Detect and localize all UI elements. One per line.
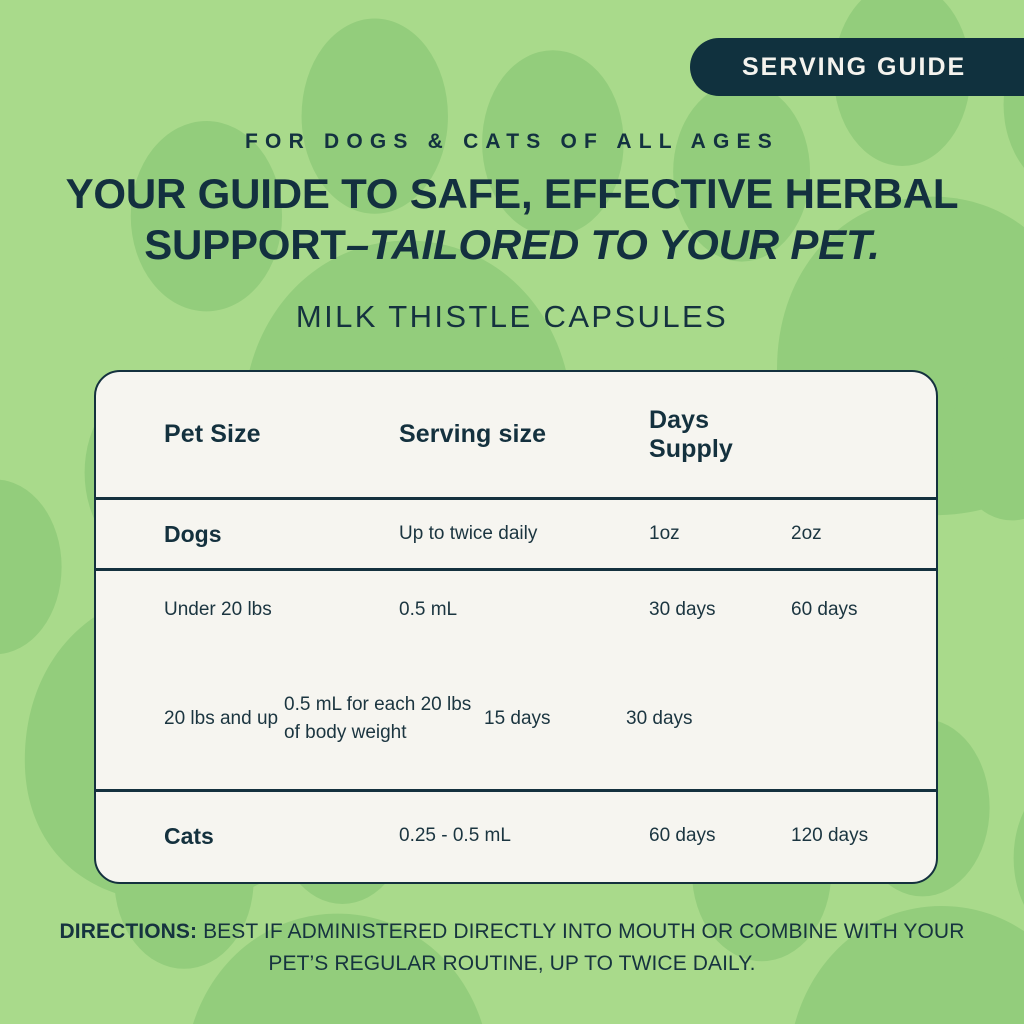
headline-block: FOR DOGS & CATS OF ALL AGES YOUR GUIDE T… bbox=[0, 130, 1024, 335]
cell-supply-2: 60 days bbox=[791, 596, 938, 624]
table-row-under-20-lbs: Under 20 lbs 0.5 mL 30 days 60 days bbox=[96, 571, 936, 649]
cell-serving-size: 0.5 mL bbox=[399, 596, 649, 624]
serving-guide-badge-label: SERVING GUIDE bbox=[690, 53, 966, 82]
cell-pet-size: Under 20 lbs bbox=[164, 596, 399, 624]
cell-supply-1: 30 days bbox=[649, 596, 791, 624]
cell-supply-2: 30 days bbox=[626, 705, 776, 733]
directions-footer: DIRECTIONS: BEST IF ADMINISTERED DIRECTL… bbox=[52, 916, 972, 980]
cell-serving-size: 0.5 mL for each 20 lbs of body weight bbox=[284, 691, 484, 746]
cell-pet-size: Dogs bbox=[164, 521, 399, 548]
headline-line-2-italic: –TAILORED TO YOUR PET. bbox=[346, 221, 880, 268]
cell-pet-size: 20 lbs and up bbox=[164, 705, 284, 733]
cell-supply-2: 2oz bbox=[791, 520, 938, 548]
cell-supply-1: 60 days bbox=[649, 822, 791, 850]
table-row-20-lbs-and-up: 20 lbs and up 0.5 mL for each 20 lbs of … bbox=[96, 649, 936, 789]
cell-supply-1: 15 days bbox=[484, 705, 626, 733]
cell-supply-2: 120 days bbox=[791, 822, 938, 850]
product-name: MILK THISTLE CAPSULES bbox=[0, 299, 1024, 335]
serving-guide-poster: SERVING GUIDE FOR DOGS & CATS OF ALL AGE… bbox=[0, 0, 1024, 1024]
directions-text: BEST IF ADMINISTERED DIRECTLY INTO MOUTH… bbox=[197, 920, 964, 975]
table-row-dogs: Dogs Up to twice daily 1oz 2oz bbox=[96, 500, 936, 568]
page-title: YOUR GUIDE TO SAFE, EFFECTIVE HERBAL SUP… bbox=[0, 169, 1024, 271]
eyebrow-text: FOR DOGS & CATS OF ALL AGES bbox=[0, 130, 1024, 153]
cell-supply-1: 1oz bbox=[649, 520, 791, 548]
headline-line-1: YOUR GUIDE TO SAFE, EFFECTIVE HERBAL bbox=[66, 170, 959, 217]
cell-serving-size: 0.25 - 0.5 mL bbox=[399, 822, 649, 850]
column-header-serving-size: Serving size bbox=[399, 420, 649, 449]
directions-label: DIRECTIONS: bbox=[60, 920, 198, 943]
headline-line-2-plain: SUPPORT bbox=[144, 221, 346, 268]
table-header-row: Pet Size Serving size Days Supply bbox=[96, 372, 936, 497]
table-row-cats: Cats 0.25 - 0.5 mL 60 days 120 days bbox=[96, 792, 936, 880]
column-header-pet-size: Pet Size bbox=[164, 420, 399, 449]
dosage-table-card: Pet Size Serving size Days Supply Dogs U… bbox=[94, 370, 938, 884]
serving-guide-badge: SERVING GUIDE bbox=[690, 38, 1024, 96]
cell-pet-size: Cats bbox=[164, 823, 399, 850]
column-header-days-supply: Days Supply bbox=[649, 406, 791, 464]
table-size-rows-group: Under 20 lbs 0.5 mL 30 days 60 days 20 l… bbox=[96, 571, 936, 789]
cell-serving-size: Up to twice daily bbox=[399, 520, 649, 548]
